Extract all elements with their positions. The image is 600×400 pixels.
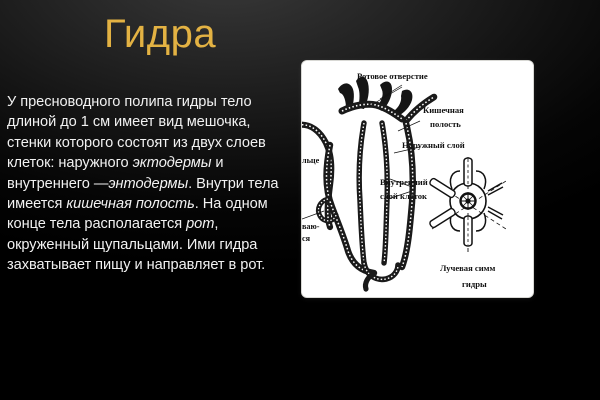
term-endoderm: энтодермы <box>108 176 188 192</box>
label-inner-layer-line2: слой клеток <box>380 191 427 201</box>
label-mouth-opening: Ротовое отверстие <box>357 71 428 81</box>
label-clipped-budding-2: ся <box>302 234 311 243</box>
term-ectoderm: эктодермы <box>133 155 212 171</box>
label-clipped-tentacle: льце <box>302 156 320 165</box>
term-gastric-cavity: кишечная полость <box>66 196 194 212</box>
hydra-anatomy-illustration: Ротовое отверстие Кишечная полость Наруж… <box>302 61 533 297</box>
label-inner-layer-line1: Внутренний <box>380 177 428 187</box>
label-gut-cavity-line1: Кишечная <box>423 105 464 115</box>
label-gut-cavity-line2: полость <box>430 119 461 129</box>
caption-radial-symmetry-line1: Лучевая симм <box>440 263 496 273</box>
presentation-slide: Гидра У пресноводного полипа гидры тело … <box>0 0 600 400</box>
label-clipped-budding-1: ваю- <box>302 222 320 231</box>
hydra-diagram-panel[interactable]: Ротовое отверстие Кишечная полость Наруж… <box>302 61 533 297</box>
label-outer-layer: Наружный слой <box>402 140 465 150</box>
page-title: Гидра <box>104 8 216 60</box>
term-mouth: рот <box>186 216 214 232</box>
body-paragraph: У пресноводного полипа гидры тело длиной… <box>7 92 297 276</box>
caption-radial-symmetry-line2: гидры <box>462 279 487 289</box>
